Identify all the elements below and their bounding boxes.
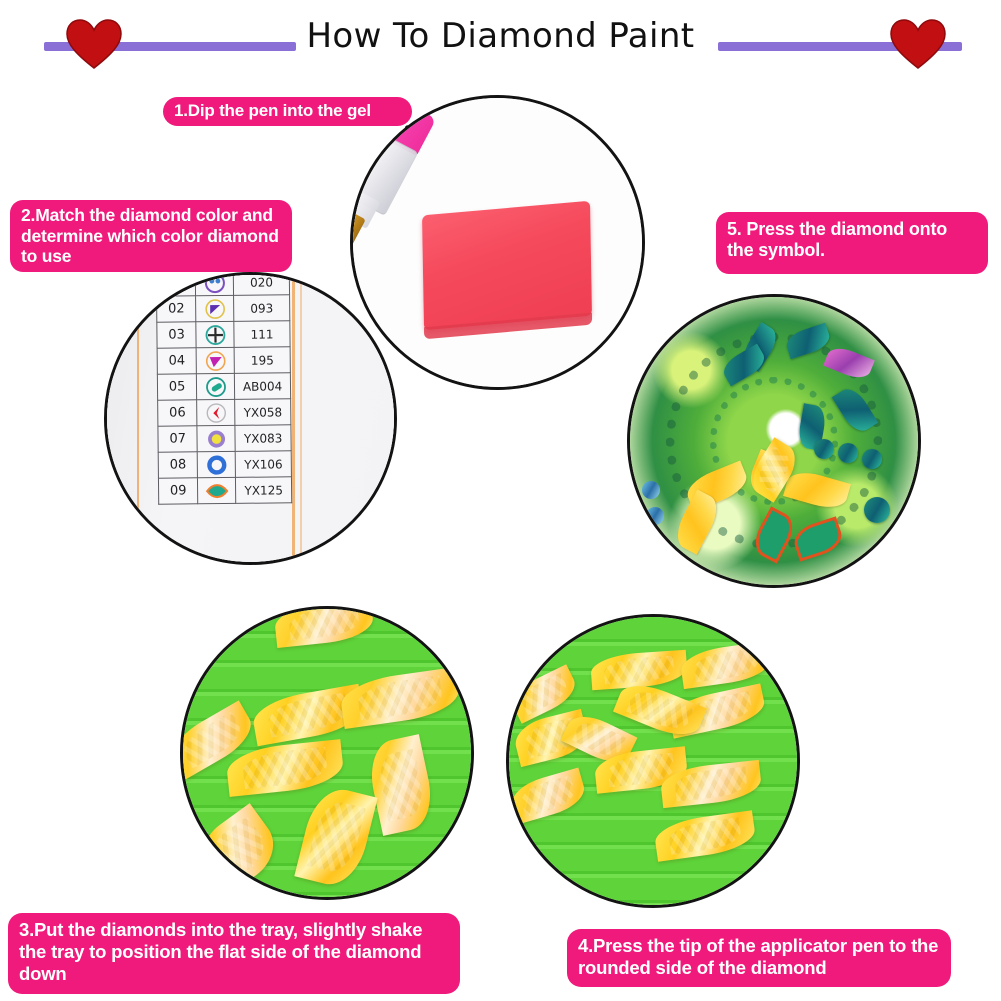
pickup-photo-content — [509, 617, 797, 905]
row-code: AB004 — [235, 373, 291, 400]
row-code: 093 — [234, 295, 290, 322]
magenta-triangle-symbol — [197, 349, 234, 371]
photo-diamonds-in-tray — [180, 606, 474, 900]
gem — [838, 443, 858, 463]
row-code: 195 — [234, 347, 290, 374]
row-code: 111 — [234, 321, 290, 348]
row-symbol — [197, 425, 235, 451]
row-number: 09 — [158, 478, 198, 504]
red-arrow-symbol — [197, 401, 234, 423]
photo-pen-in-gel — [350, 95, 645, 390]
row-code: 020 — [233, 272, 289, 295]
row-number: 02 — [157, 296, 197, 322]
wax-gel-pad — [422, 201, 592, 331]
photo-press-onto-symbol — [627, 294, 921, 588]
table-row: 05 AB004 — [157, 373, 290, 400]
gem — [862, 449, 882, 469]
purple-triangle-symbol — [196, 297, 233, 319]
tray-photo-content — [183, 609, 471, 897]
photo-color-chart: 020 02 093 03 — [104, 272, 397, 565]
row-code: YX058 — [235, 399, 291, 426]
row-symbol — [196, 295, 234, 321]
yellow-dot-ring-symbol — [198, 427, 235, 449]
row-code: YX083 — [235, 425, 291, 452]
table-row: 09 YX125 — [158, 477, 291, 504]
row-number: 08 — [158, 452, 198, 478]
table-row: 07 YX083 — [158, 425, 291, 452]
row-symbol — [198, 477, 236, 503]
photo-pick-up-diamond — [506, 614, 800, 908]
row-code: YX106 — [235, 451, 291, 478]
row-symbol — [197, 373, 235, 399]
blue-ring-symbol — [198, 453, 235, 475]
table-row: 06 YX058 — [158, 399, 291, 426]
diamond-code-table: 020 02 093 03 — [156, 272, 292, 505]
infographic-canvas: How To Diamond Paint — [0, 0, 1001, 1001]
gem — [864, 497, 890, 523]
step-1-label: 1.Dip the pen into the gel — [163, 97, 412, 126]
row-symbol — [196, 321, 234, 347]
table-row: 08 YX106 — [158, 451, 291, 478]
gel-photo-content — [353, 98, 642, 387]
row-number: 07 — [158, 426, 198, 452]
plus-cross-symbol — [197, 323, 234, 345]
chart-margin-stripe — [137, 275, 139, 562]
row-symbol — [196, 272, 234, 296]
row-number: 03 — [157, 322, 197, 348]
table-row: 02 093 — [157, 295, 290, 322]
double-dot-circle-symbol — [196, 272, 233, 294]
gem — [814, 439, 834, 459]
row-symbol — [197, 399, 235, 425]
row-symbol — [196, 347, 234, 373]
table-row: 03 111 — [157, 321, 290, 348]
step-4-label: 4.Press the tip of the applicator pen to… — [567, 929, 951, 987]
diamond-code-table-body: 020 02 093 03 — [156, 272, 291, 504]
table-row: 04 195 — [157, 347, 290, 374]
step-3-label: 3.Put the diamonds into the tray, slight… — [8, 913, 460, 994]
row-number: 04 — [157, 348, 197, 374]
teal-blob-symbol — [197, 375, 234, 397]
chart-margin-stripe — [300, 275, 302, 562]
page-title: How To Diamond Paint — [0, 16, 1001, 56]
table-row: 020 — [156, 272, 289, 296]
step-5-label: 5. Press the diamond onto the symbol. — [716, 212, 988, 274]
gem — [646, 507, 664, 525]
row-number: 06 — [158, 400, 198, 426]
header: How To Diamond Paint — [0, 0, 1001, 78]
chart-margin-stripe — [292, 275, 295, 562]
row-symbol — [197, 451, 235, 477]
symbol-photo-content — [630, 297, 918, 585]
row-code: YX125 — [236, 477, 292, 504]
chart-photo-content: 020 02 093 03 — [107, 275, 394, 562]
row-number — [156, 272, 196, 296]
row-number: 05 — [157, 374, 197, 400]
teal-leaf-symbol — [198, 479, 235, 501]
step-2-label: 2.Match the diamond color and determine … — [10, 200, 292, 272]
gem — [642, 481, 660, 499]
